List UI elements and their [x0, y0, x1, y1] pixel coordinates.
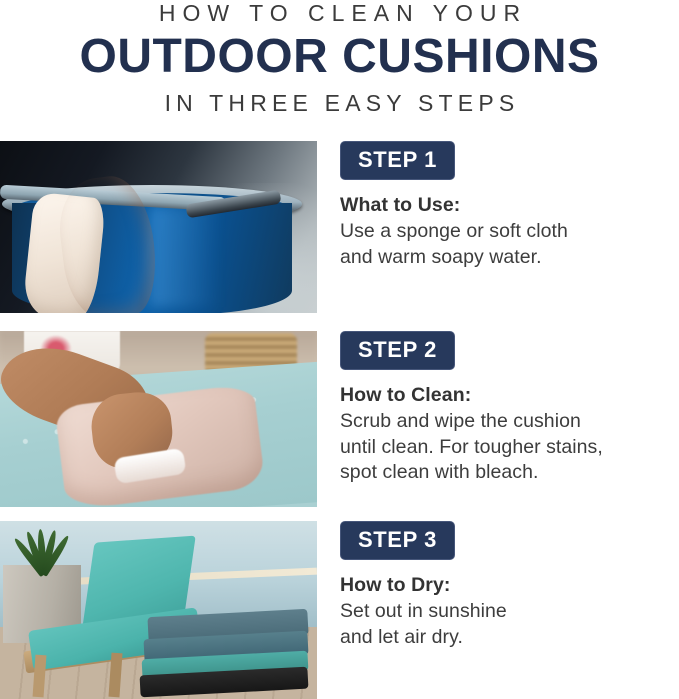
step-2-badge: STEP 2 [340, 331, 455, 370]
stacked-cushions [140, 613, 310, 699]
step-3-image [0, 521, 317, 699]
step-3-body: Set out in sunshine and let air dry. [340, 599, 679, 650]
bucket-sheen [150, 207, 220, 307]
header-kicker: HOW TO CLEAN YOUR [7, 1, 679, 26]
step-2-image [0, 331, 317, 507]
step-1-copy: STEP 1 What to Use: Use a sponge or soft… [340, 141, 679, 270]
step-1-badge: STEP 1 [340, 141, 455, 180]
header: HOW TO CLEAN YOUR OUTDOOR CUSHIONS IN TH… [0, 0, 679, 116]
step-2-body: Scrub and wipe the cushion until clean. … [340, 409, 679, 486]
step-3-copy: STEP 3 How to Dry: Set out in sunshine a… [340, 521, 679, 650]
page-title: OUTDOOR CUSHIONS [0, 31, 679, 83]
step-2-lead: How to Clean: [340, 383, 679, 408]
plant-icon [6, 523, 84, 575]
header-subkicker: IN THREE EASY STEPS [5, 90, 679, 116]
lounger-photo-illustration [0, 521, 317, 699]
wiping-cushion-photo-illustration [0, 331, 317, 507]
infographic-page: HOW TO CLEAN YOUR OUTDOOR CUSHIONS IN TH… [0, 0, 679, 699]
step-2-copy: STEP 2 How to Clean: Scrub and wipe the … [340, 331, 679, 486]
step-3-badge: STEP 3 [340, 521, 455, 560]
step-3-lead: How to Dry: [340, 573, 679, 598]
step-1-body: Use a sponge or soft cloth and warm soap… [340, 219, 679, 270]
step-1-lead: What to Use: [340, 193, 679, 218]
bucket-photo-illustration [0, 141, 317, 313]
step-1-image [0, 141, 317, 313]
